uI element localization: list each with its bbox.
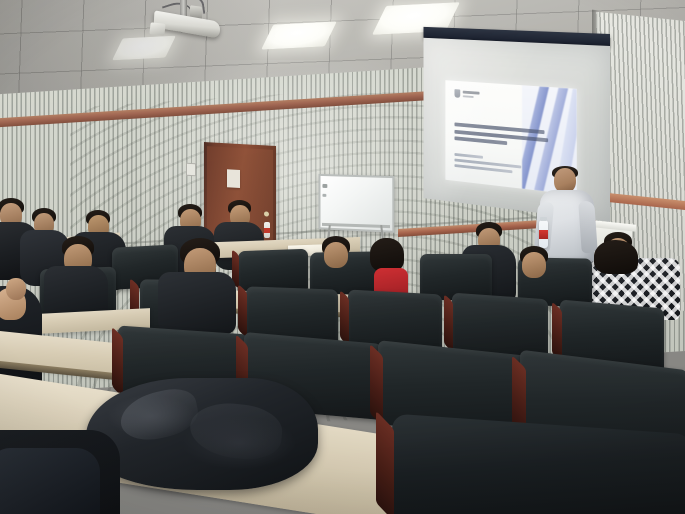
whiteboard-clip	[322, 194, 326, 197]
university-crest-icon	[454, 89, 460, 98]
whiteboard-clip	[322, 184, 327, 188]
chair-armrest	[444, 294, 453, 352]
door-handle[interactable]	[264, 211, 269, 216]
wall-light-switch[interactable]	[186, 163, 196, 177]
water-bottle-label	[264, 228, 270, 233]
presenter-arm	[578, 201, 598, 254]
chair-armrest	[376, 411, 394, 514]
student-head	[324, 242, 348, 268]
chair-armrest	[112, 327, 123, 398]
chair-armrest	[340, 290, 349, 346]
water-bottle-label	[539, 230, 548, 239]
student-jacket	[158, 272, 236, 334]
student-head	[522, 252, 546, 278]
chair-armrest	[238, 284, 247, 338]
projector-lens	[149, 22, 165, 36]
water-bottle-cap	[540, 217, 547, 221]
door-sign	[227, 169, 240, 188]
ceiling-mounted-projector	[146, 0, 232, 46]
foreground-person-hand	[6, 278, 26, 300]
slide-university-logo	[454, 89, 479, 99]
lecture-hall-photo: Mining Software Repositories & Automate …	[0, 0, 685, 514]
foreground-person-jacket	[0, 448, 100, 514]
student-hair	[594, 240, 638, 274]
student-hair	[370, 238, 404, 272]
